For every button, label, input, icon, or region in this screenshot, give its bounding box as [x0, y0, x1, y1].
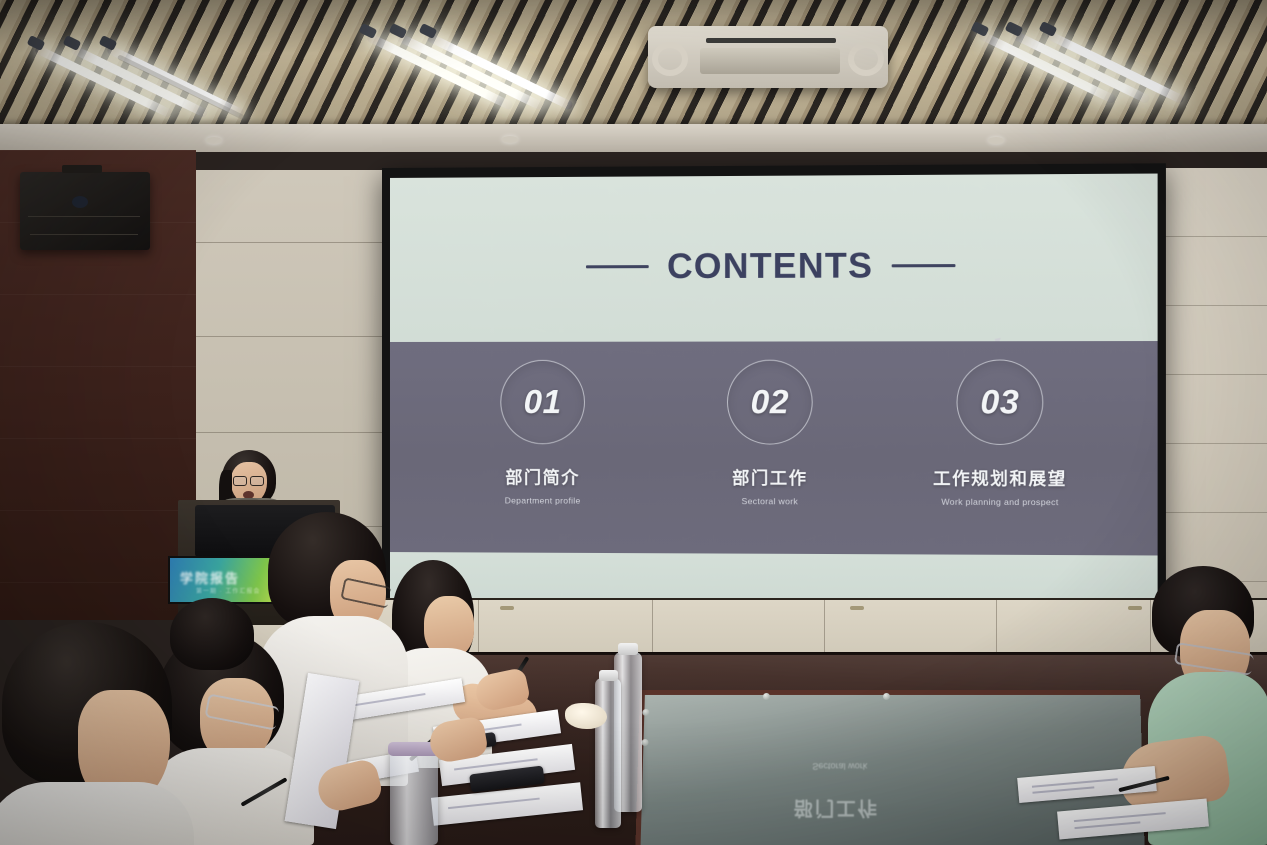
slide-header-band: CONTENTS — [390, 174, 1158, 342]
ac-intake-slot — [706, 38, 836, 43]
agenda-item-01: 01 部门简介 Department profile — [456, 360, 629, 506]
contents-title-row: CONTENTS — [586, 246, 956, 288]
ac-mount-arm-right — [848, 42, 884, 76]
table-reflection-en: Sectoral work — [812, 761, 867, 771]
attendee-torso — [0, 782, 194, 845]
agenda-item-02: 02 部门工作 Sectoral work — [682, 359, 858, 506]
projection-screen: CONTENTS 01 部门简介 Department profile — [382, 163, 1166, 612]
title-rule-left — [586, 266, 649, 269]
conference-room-scene: CONTENTS 01 部门简介 Department profile — [0, 0, 1267, 845]
agenda-label-cn: 部门工作 — [732, 464, 808, 489]
screen-surface: CONTENTS 01 部门简介 Department profile — [390, 174, 1158, 603]
podium-banner: 学院报告 第一期 · 工作汇报会 — [168, 556, 280, 604]
agenda-label-en: Department profile — [505, 495, 581, 505]
table-reflection-cn: 部门工作 — [794, 796, 879, 824]
slide-body-band: 01 部门简介 Department profile 02 部门工作 Secto… — [390, 341, 1158, 555]
agenda-number: 03 — [980, 383, 1019, 422]
ac-grille — [700, 48, 840, 74]
agenda-item-03: 03 工作规划和展望 Work planning and prospect — [911, 359, 1089, 507]
agenda-label-en: Work planning and prospect — [941, 496, 1058, 507]
agenda-circle: 03 — [956, 359, 1043, 445]
speaker-seam — [28, 216, 140, 217]
presenter-glasses-right — [250, 476, 264, 486]
agenda-label-cn: 部门简介 — [505, 463, 580, 488]
agenda-number: 02 — [751, 383, 789, 421]
ceiling-beam — [0, 124, 1267, 152]
title-rule-right — [892, 264, 956, 267]
agenda-label-en: Sectoral work — [742, 496, 799, 506]
banner-title: 学院报告 — [180, 568, 272, 587]
slide-title: CONTENTS — [667, 246, 873, 287]
speaker-seam — [30, 234, 138, 235]
water-cup[interactable] — [390, 748, 438, 845]
downlight — [206, 137, 222, 144]
agenda-label-cn: 工作规划和展望 — [933, 464, 1067, 490]
crumpled-tissue — [565, 703, 607, 729]
agenda-circle: 01 — [500, 360, 585, 444]
bottle-cap — [599, 670, 618, 681]
ac-mount-arm-left — [652, 42, 688, 76]
presentation-slide: CONTENTS 01 部门简介 Department profile — [390, 174, 1158, 603]
water-bottle[interactable] — [595, 678, 621, 828]
ceiling — [0, 0, 1267, 152]
ceiling-ac-unit — [648, 26, 888, 88]
presenter-glasses-left — [233, 476, 247, 486]
downlight — [502, 136, 518, 143]
banner-subtitle: 第一期 · 工作汇报会 — [196, 586, 260, 595]
attendee-hair — [170, 598, 254, 670]
bottle-cap — [618, 643, 638, 655]
slide-footer-band — [390, 552, 1158, 603]
agenda-circle: 02 — [727, 359, 813, 444]
downlight — [988, 137, 1004, 144]
speaker-driver — [72, 196, 88, 208]
agenda-items: 01 部门简介 Department profile 02 部门工作 Secto… — [390, 359, 1158, 507]
agenda-number: 01 — [524, 383, 562, 421]
speaker-bracket — [62, 165, 102, 173]
wall-speaker — [20, 172, 150, 250]
